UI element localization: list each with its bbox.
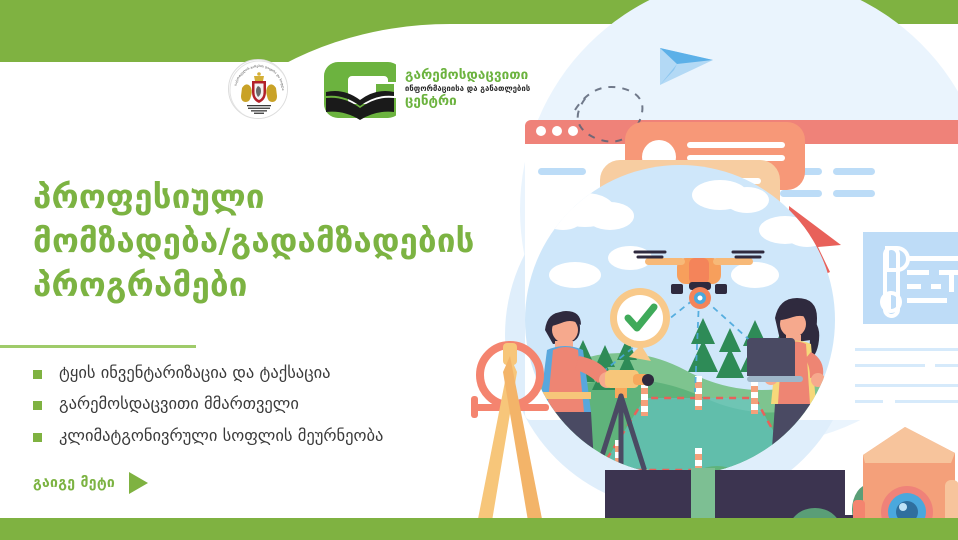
play-triangle-icon [129, 472, 148, 494]
learn-more-button[interactable]: გაიგე მეტი [33, 472, 148, 494]
bottom-green-band [0, 518, 958, 540]
illustration-land-surveying [455, 0, 958, 540]
list-item: კლიმატგონივრული სოფლის მეურნეობა [33, 425, 493, 447]
bullet-square-icon [33, 401, 42, 410]
page-title: პროფესიული მომზადება/გადამზადების პროგრა… [33, 175, 493, 307]
eiec-logo-text: გარემოსდაცვითი ინფორმაციისა და განათლები… [405, 68, 530, 110]
list-item-label: გარემოსდაცვითი მმართველი [59, 393, 299, 415]
bullet-square-icon [33, 370, 42, 379]
logo-line-1: გარემოსდაცვითი [405, 68, 530, 84]
georgia-coat-of-arms-emblem: საქართველოს გარემოს დაცვისა და სოფლის მე… [228, 59, 288, 119]
eiec-logo: გარემოსდაცვითი ინფორმაციისა და განათლები… [324, 58, 530, 120]
list-item-label: ტყის ინვენტარიზაცია და ტაქსაცია [59, 362, 331, 384]
banner-stage: საქართველოს გარემოს დაცვისა და სოფლის მე… [0, 0, 958, 540]
title-line-1: პროფესიული [33, 175, 493, 219]
list-item: გარემოსდაცვითი მმართველი [33, 393, 493, 415]
logo-row: საქართველოს გარემოს დაცვისა და სოფლის მე… [228, 58, 530, 120]
list-item-label: კლიმატგონივრული სოფლის მეურნეობა [59, 425, 383, 447]
bullet-square-icon [33, 433, 42, 442]
title-divider [0, 345, 196, 348]
logo-line-3: ცენტრი [405, 94, 530, 110]
program-list: ტყის ინვენტარიზაცია და ტაქსაცია გარემოსდ… [33, 362, 493, 456]
eiec-logo-mark [324, 58, 396, 120]
title-line-2: მომზადება/გადამზადების [33, 219, 493, 263]
list-item: ტყის ინვენტარიზაცია და ტაქსაცია [33, 362, 493, 384]
title-line-3: პროგრამები [33, 263, 493, 307]
learn-more-label: გაიგე მეტი [33, 475, 115, 491]
